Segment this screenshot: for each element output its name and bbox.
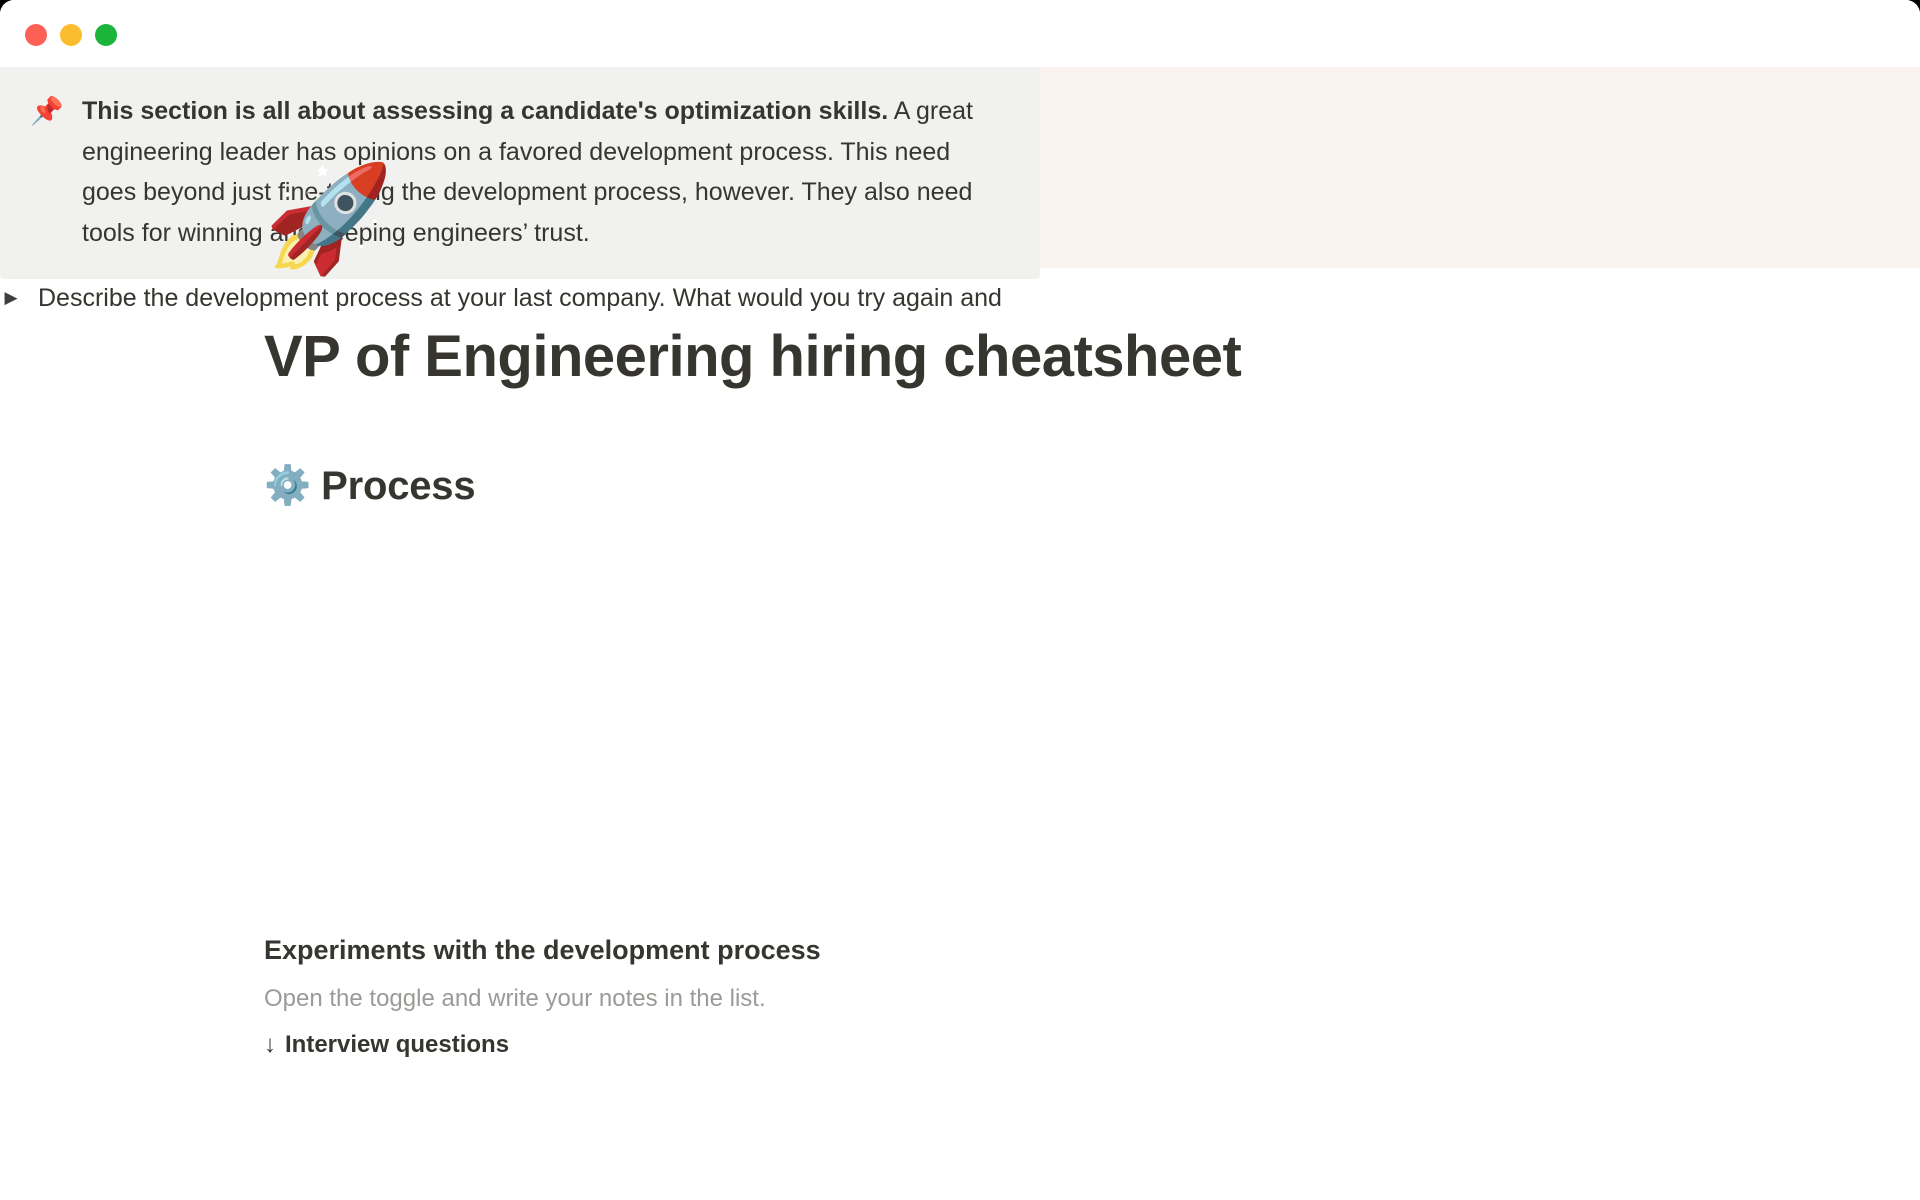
toggle-heading-interview-questions[interactable]: ↓ Interview questions	[264, 1028, 1304, 1062]
callout-text: This section is all about assessing a ca…	[82, 91, 1010, 253]
arrow-down-icon: ↓	[264, 1028, 276, 1062]
window-titlebar[interactable]	[0, 0, 1920, 67]
close-window-button[interactable]	[25, 24, 47, 46]
page-content: 🚀 VP of Engineering hiring cheatsheet ⚙️…	[0, 67, 1920, 317]
heading-process-label: Process	[321, 462, 475, 510]
traffic-light-controls	[25, 24, 117, 46]
rocket-icon[interactable]: 🚀	[264, 167, 388, 291]
heading-experiments[interactable]: Experiments with the development process	[264, 933, 1304, 968]
experiments-note: Open the toggle and write your notes in …	[264, 982, 1304, 1016]
minimize-window-button[interactable]	[60, 24, 82, 46]
maximize-window-button[interactable]	[95, 24, 117, 46]
page-scroll-area[interactable]: 🚀 VP of Engineering hiring cheatsheet ⚙️…	[0, 67, 1920, 1200]
chevron-right-icon[interactable]: ▶	[0, 279, 22, 317]
toggle-heading-label: Interview questions	[285, 1028, 509, 1062]
toggle-item-label: Describe the development process at your…	[38, 279, 1002, 317]
gear-icon: ⚙️	[264, 467, 311, 505]
callout-lead: This section is all about assessing a ca…	[82, 97, 888, 125]
heading-process[interactable]: ⚙️ Process	[264, 462, 1304, 510]
app-window: 🚀 VP of Engineering hiring cheatsheet ⚙️…	[0, 0, 1920, 1200]
page-title[interactable]: VP of Engineering hiring cheatsheet	[264, 325, 1304, 389]
toggle-list-item[interactable]: ▶ Describe the development process at yo…	[0, 279, 1060, 317]
pushpin-icon: 📌	[30, 91, 62, 131]
callout-block[interactable]: 📌 This section is all about assessing a …	[0, 67, 1040, 279]
